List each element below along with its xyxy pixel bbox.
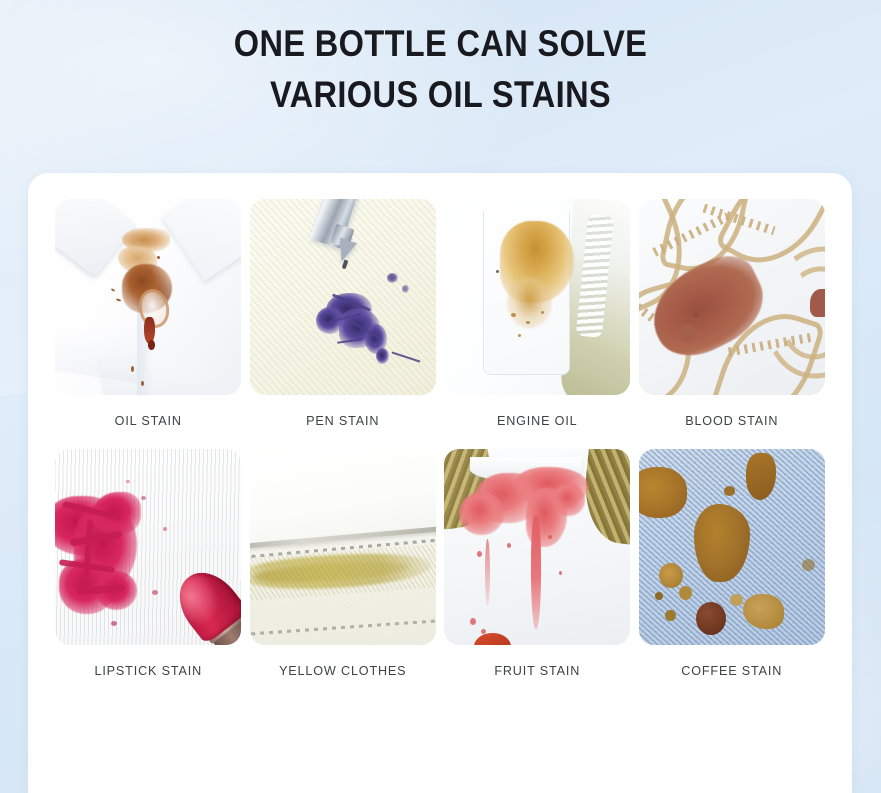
coffee-splatter-blob <box>743 594 784 629</box>
ink-blot <box>402 285 409 293</box>
oil-speck <box>116 298 121 301</box>
stain-types-card: OIL STAIN <box>28 173 852 793</box>
blood-stain-speck <box>694 313 698 317</box>
stain-label-fruit-stain: FRUIT STAIN <box>444 664 631 678</box>
lipstick-speck <box>126 480 130 483</box>
stain-cell-blood-stain[interactable]: BLOOD STAIN <box>639 199 826 428</box>
stain-label-blood-stain: BLOOD STAIN <box>639 414 826 428</box>
stain-cell-coffee-stain[interactable]: COFFEE STAIN <box>639 449 826 678</box>
stain-label-coffee-stain: COFFEE STAIN <box>639 664 826 678</box>
fruit-piece <box>474 633 511 645</box>
coffee-splatter-blob <box>696 602 726 635</box>
lipstick-speck <box>152 590 158 595</box>
oil-stain-droplet <box>148 340 155 350</box>
blood-stain-photo <box>639 199 825 395</box>
lipstick-tube <box>150 547 241 645</box>
ink-blot <box>376 348 389 364</box>
stain-label-engine-oil: ENGINE OIL <box>444 414 631 428</box>
fruit-stain-photo <box>444 449 630 645</box>
oil-speck <box>496 270 499 273</box>
stain-cell-fruit-stain[interactable]: FRUIT STAIN <box>444 449 631 678</box>
stain-grid-row: LIPSTICK STAIN YELLOW CLOTHES <box>55 449 825 678</box>
stain-label-pen-stain: PEN STAIN <box>250 414 437 428</box>
oil-speck <box>141 381 144 386</box>
coffee-stain-photo <box>639 449 825 645</box>
blood-stain-edge <box>810 289 825 316</box>
coffee-splatter-blob <box>679 586 692 600</box>
coffee-splatter-blob <box>659 563 683 588</box>
pen-stain-photo <box>250 199 436 395</box>
lipstick-speck <box>141 496 146 500</box>
stain-grid-row: OIL STAIN <box>55 199 825 428</box>
oil-speck <box>526 321 530 324</box>
ink-blot <box>387 273 398 283</box>
oil-speck <box>541 311 544 314</box>
fruit-juice-droplet <box>477 551 482 557</box>
coffee-splatter-blob <box>724 486 735 496</box>
stain-cell-lipstick-stain[interactable]: LIPSTICK STAIN <box>55 449 242 678</box>
coffee-splatter-blob <box>655 592 662 600</box>
coffee-splatter-blob <box>694 504 750 582</box>
oil-stain-photo <box>55 199 241 395</box>
stain-grid: OIL STAIN <box>55 199 825 678</box>
oil-speck <box>157 256 160 259</box>
lipstick-speck <box>163 527 167 531</box>
stain-cell-yellow-clothes[interactable]: YELLOW CLOTHES <box>250 449 437 678</box>
fruit-juice-droplet <box>470 618 476 625</box>
stain-cell-pen-stain[interactable]: PEN STAIN <box>250 199 437 428</box>
oil-speck <box>511 313 516 317</box>
stain-label-oil-stain: OIL STAIN <box>55 414 242 428</box>
fruit-juice-splash <box>552 484 585 515</box>
blonde-hair-right <box>580 449 630 546</box>
fruit-juice-drip <box>531 516 540 630</box>
shirt-collar-right <box>161 199 241 281</box>
page-title: ONE BOTTLE CAN SOLVE VARIOUS OIL STAINS <box>53 18 828 120</box>
fruit-juice-droplet <box>559 571 562 575</box>
fruit-juice-splash <box>459 492 504 535</box>
stain-label-yellow-clothes: YELLOW CLOTHES <box>250 664 437 678</box>
stain-label-lipstick-stain: LIPSTICK STAIN <box>55 664 242 678</box>
ink-stroke <box>391 351 420 362</box>
coffee-splatter-blob <box>746 453 776 500</box>
fruit-juice-droplet <box>507 543 511 548</box>
coffee-splatter-blob <box>730 594 743 606</box>
oil-speck <box>111 288 115 292</box>
coffee-splatter-blob <box>665 610 676 622</box>
stain-cell-oil-stain[interactable]: OIL STAIN <box>55 199 242 428</box>
coffee-splatter-blob <box>639 467 687 518</box>
lipstick-stain-photo <box>55 449 241 645</box>
engine-oil-photo <box>444 199 630 395</box>
yellow-clothes-photo <box>250 449 436 645</box>
fruit-juice-drip <box>485 539 490 606</box>
stain-cell-engine-oil[interactable]: ENGINE OIL <box>444 199 631 428</box>
coffee-splatter-blob <box>802 559 815 571</box>
lipstick-speck <box>111 621 117 626</box>
